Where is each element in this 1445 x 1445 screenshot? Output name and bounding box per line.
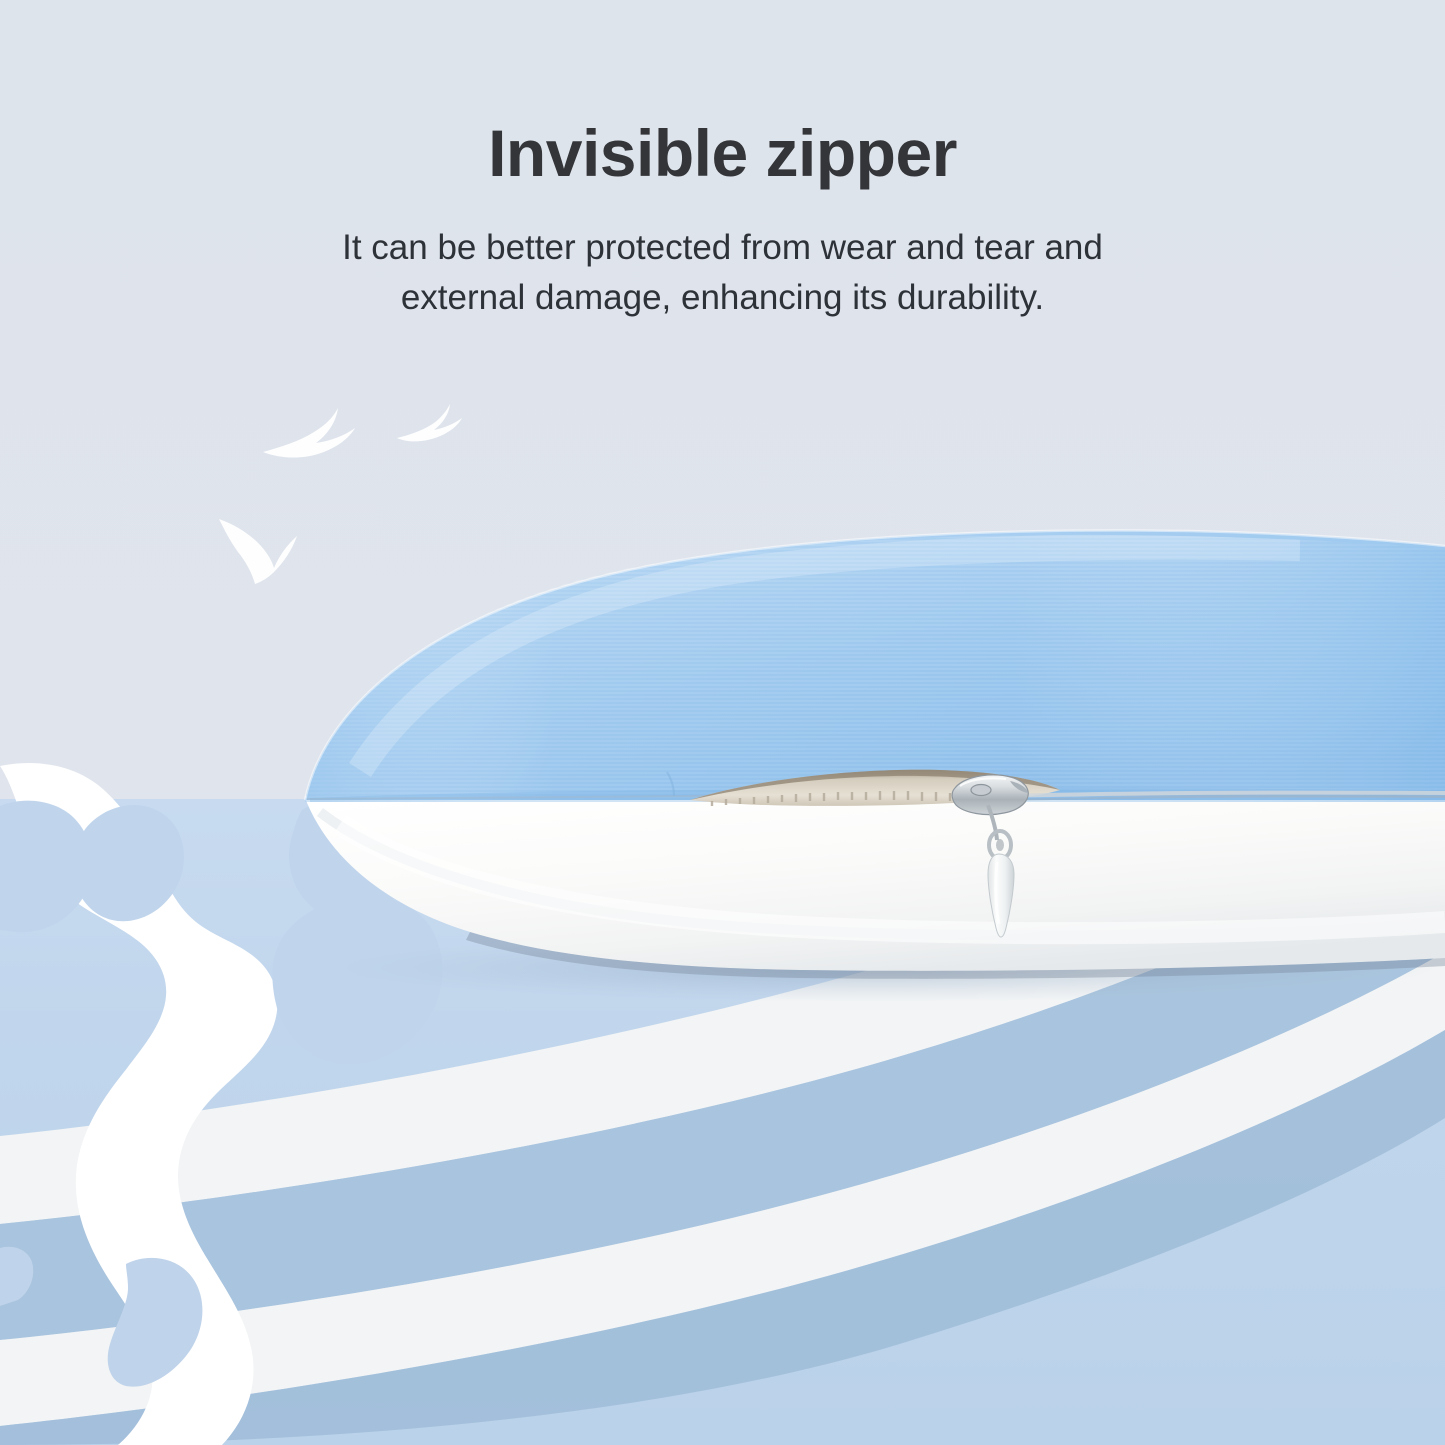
zipper-slider-pivot: [971, 785, 991, 796]
product-feature-image: Invisible zipper It can be better protec…: [0, 0, 1445, 1445]
scene-illustration: [0, 0, 1445, 1445]
